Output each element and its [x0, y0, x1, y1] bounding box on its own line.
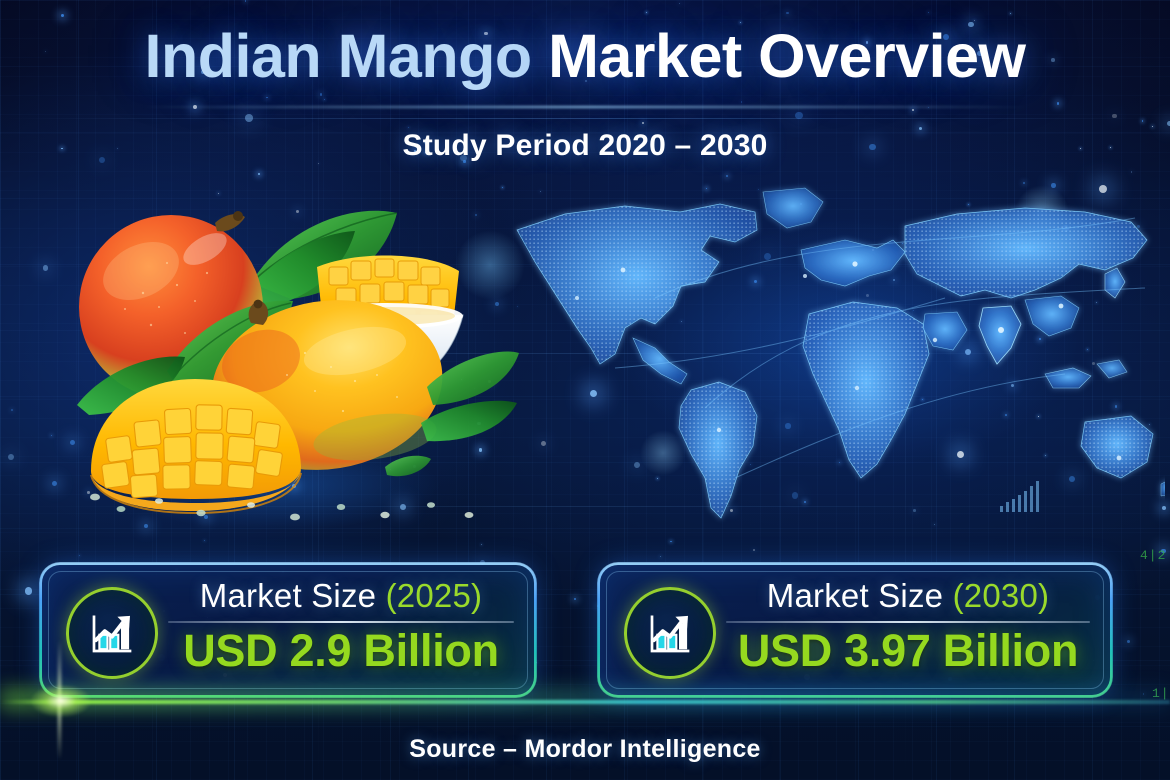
background-particle [1112, 114, 1117, 119]
background-particle [574, 598, 577, 601]
bottom-flare-haze [0, 688, 1170, 710]
background-particle [408, 127, 409, 128]
card-year: (2025) [386, 577, 483, 614]
title-underglow [140, 106, 1030, 108]
background-particle [912, 109, 914, 111]
background-particle [61, 14, 64, 17]
background-particle [642, 122, 644, 124]
background-particle [11, 409, 13, 411]
world-map [505, 178, 1165, 538]
background-particle [670, 541, 671, 542]
background-particle [679, 3, 681, 5]
background-particle [1142, 120, 1143, 121]
background-particle [320, 93, 323, 96]
card-divider [726, 621, 1090, 623]
growth-chart-icon [624, 587, 716, 679]
background-particle [1057, 102, 1060, 105]
background-particle [786, 12, 788, 14]
infographic-canvas: 4|2 1| [0, 0, 1170, 780]
stat-card-2025[interactable]: Market Size (2025) USD 2.9 Billion [42, 565, 534, 695]
background-particle [25, 587, 32, 594]
bottom-flare-streak [0, 700, 1170, 704]
background-particle [245, 114, 253, 122]
card-heading: Market Size (2025) [162, 579, 520, 614]
background-particle [660, 556, 661, 557]
card-value: USD 3.97 Billion [720, 627, 1096, 676]
background-particle [266, 97, 268, 99]
background-particle [1010, 13, 1011, 14]
background-particle [1152, 126, 1153, 127]
card-label: Market Size [767, 577, 953, 614]
background-particle [8, 454, 14, 460]
background-particle [245, 0, 247, 2]
background-particle [646, 12, 647, 13]
flare-starburst [18, 678, 104, 724]
card-heading: Market Size (2030) [720, 579, 1096, 614]
background-particle [741, 101, 742, 102]
card-year: (2030) [953, 577, 1050, 614]
background-particle [795, 112, 802, 119]
background-particle [79, 555, 80, 556]
background-particle [1131, 171, 1133, 173]
growth-chart-icon [66, 587, 158, 679]
background-particle [481, 544, 482, 545]
source-credit: Source – Mordor Intelligence [0, 735, 1170, 764]
card-value: USD 2.9 Billion [162, 627, 520, 676]
hud-digits-right: 4|2 [1140, 548, 1166, 563]
study-period-subtitle: Study Period 2020 – 2030 [0, 129, 1170, 163]
background-particle [1127, 640, 1131, 644]
background-particle [974, 20, 975, 21]
page-title: Indian Mango Market Overview [0, 24, 1170, 88]
background-particle [726, 175, 728, 177]
card-text-block: Market Size (2030) USD 3.97 Billion [720, 579, 1096, 685]
hud-bars [1000, 478, 1039, 512]
background-particle [753, 549, 755, 551]
background-particle [51, 435, 52, 436]
background-particle [928, 12, 929, 13]
card-text-block: Market Size (2025) USD 2.9 Billion [162, 579, 520, 685]
card-divider [168, 621, 514, 623]
stat-card-2030[interactable]: Market Size (2030) USD 3.97 Billion [600, 565, 1110, 695]
page-title-rest: Market Overview [532, 22, 1026, 90]
background-particle [43, 265, 49, 271]
mango-illustration [55, 175, 525, 535]
card-label: Market Size [200, 577, 386, 614]
page-title-highlight: Indian Mango [145, 22, 532, 90]
background-particle [324, 99, 325, 100]
